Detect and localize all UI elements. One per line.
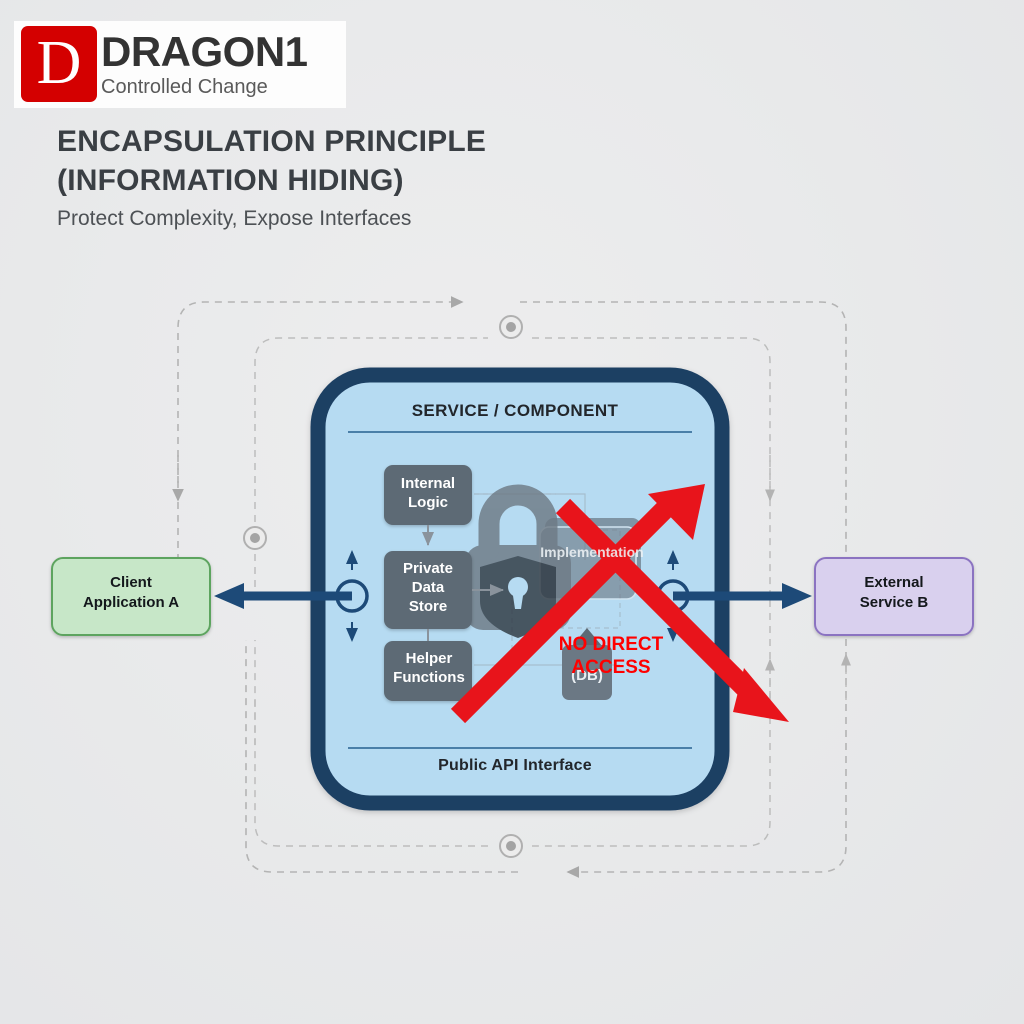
private-data-store-box: [384, 551, 472, 629]
encapsulation-diagram: [0, 0, 1024, 1024]
client-application-box[interactable]: [52, 558, 210, 635]
right-connector-arrowhead: [782, 583, 812, 609]
diagram-canvas: D DRAGON1 Controlled Change ENCAPSULATIO…: [0, 0, 1024, 1024]
helper-functions-box: [384, 641, 472, 701]
external-service-box[interactable]: [815, 558, 973, 635]
left-connector-arrowhead: [214, 583, 244, 609]
internal-logic-box: [384, 465, 472, 525]
